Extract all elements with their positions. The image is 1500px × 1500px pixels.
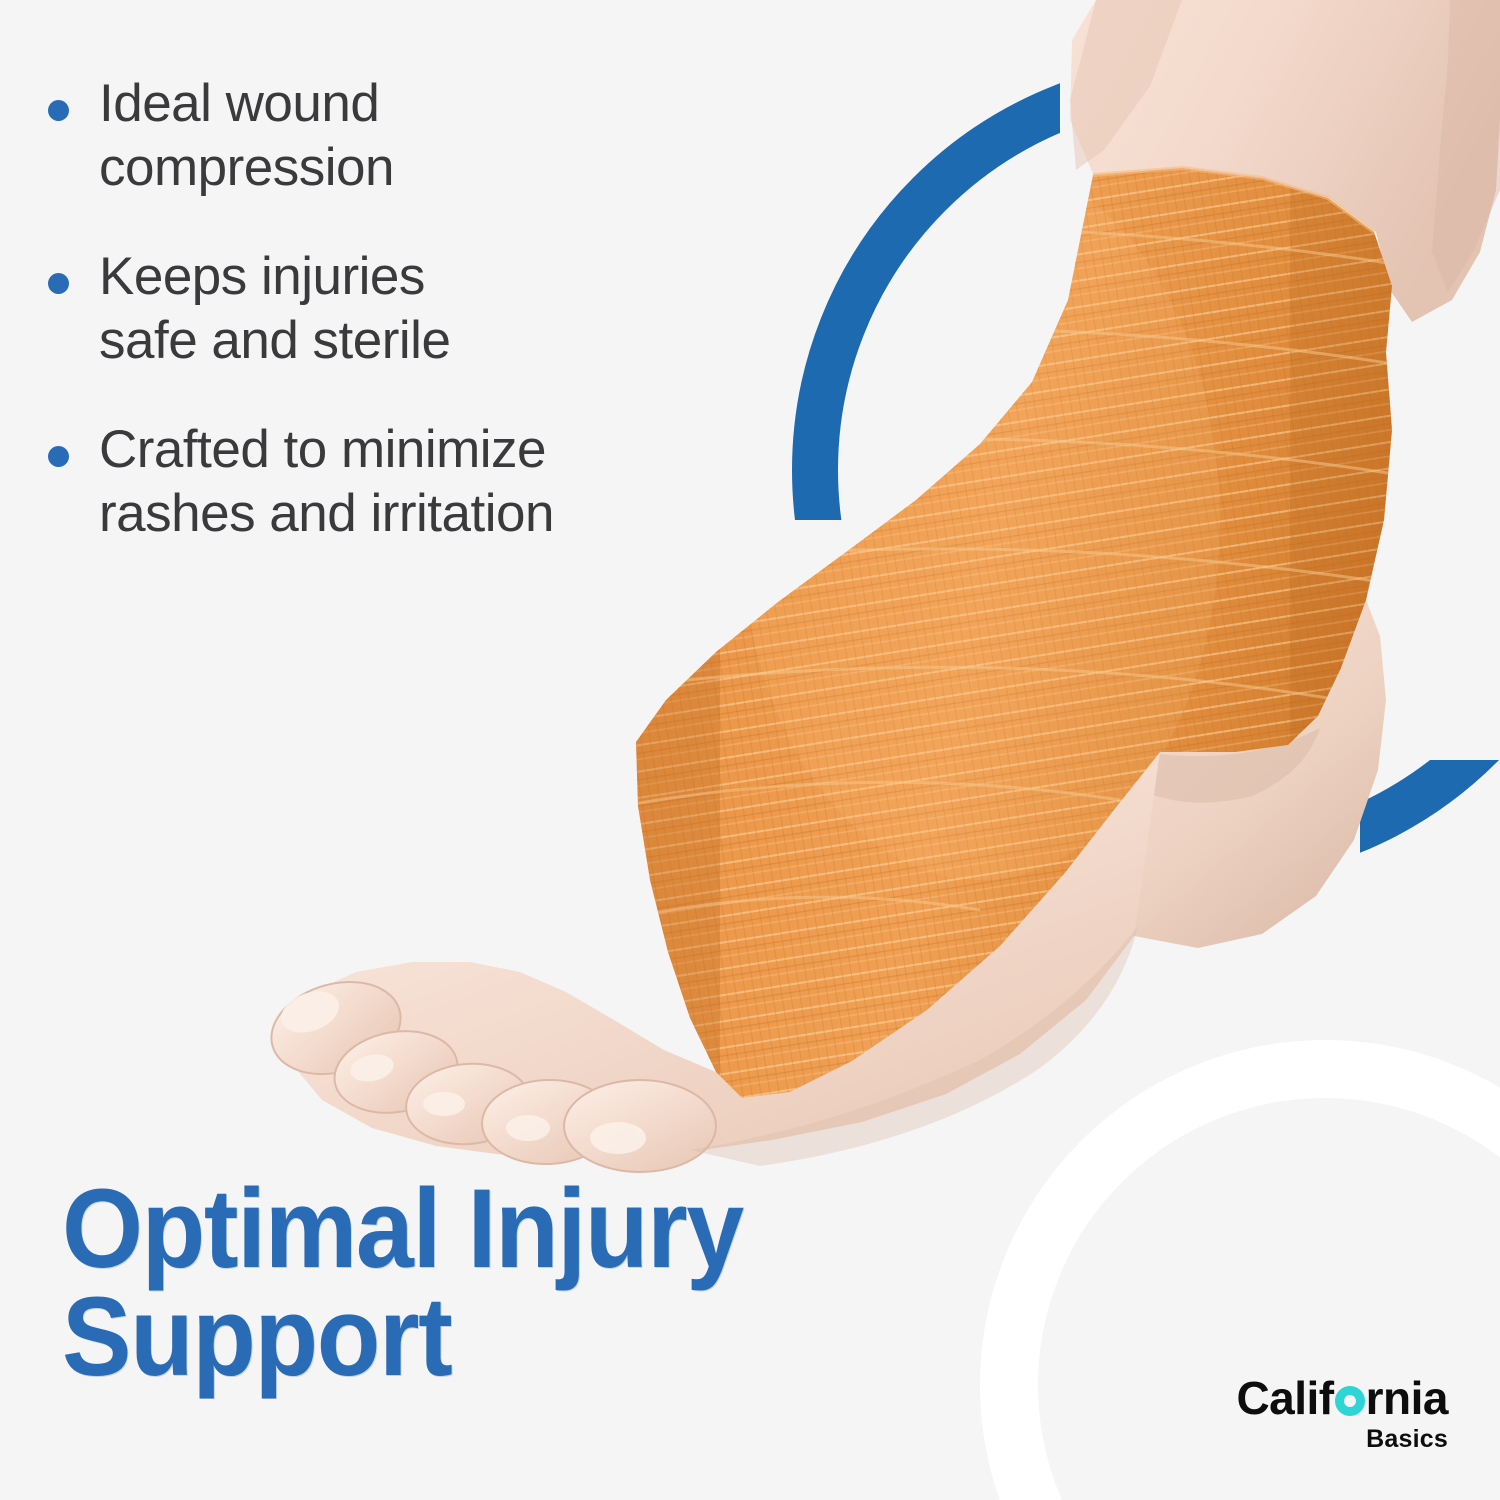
brand-name-part-1: Calif — [1236, 1372, 1333, 1424]
bullet-dot-icon — [48, 100, 69, 121]
bullet-text: Ideal wound compression — [99, 72, 394, 199]
page-title: Optimal Injury Support — [62, 1175, 743, 1392]
list-item: Keeps injuries safe and sterile — [48, 245, 748, 372]
bullet-dot-icon — [48, 446, 69, 467]
brand-name-part-2: rnia — [1366, 1372, 1448, 1424]
teal-o-icon — [1335, 1386, 1365, 1416]
product-infographic: Ideal wound compression Keeps injuries s… — [0, 0, 1500, 1500]
list-item: Ideal wound compression — [48, 72, 748, 199]
brand-wordmark: Califrnia — [1236, 1375, 1448, 1421]
bullet-text: Crafted to minimize rashes and irritatio… — [99, 418, 554, 545]
brand-logo: Califrnia Basics — [1236, 1375, 1448, 1452]
bullet-dot-icon — [48, 273, 69, 294]
bullet-text: Keeps injuries safe and sterile — [99, 245, 450, 372]
list-item: Crafted to minimize rashes and irritatio… — [48, 418, 748, 545]
brand-tagline: Basics — [1236, 1427, 1448, 1452]
feature-bullet-list: Ideal wound compression Keeps injuries s… — [48, 72, 748, 592]
